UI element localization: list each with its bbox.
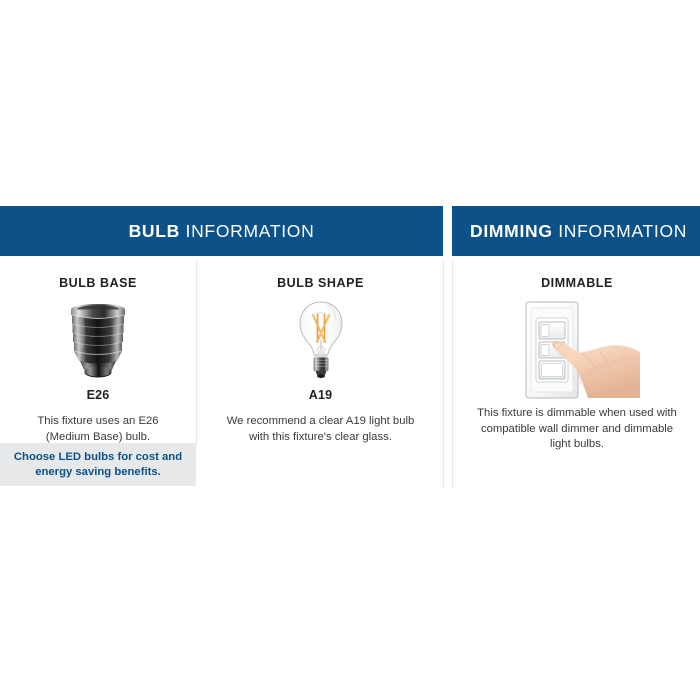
bulb-base-description: This fixture uses an E26 (Medium Base) b… <box>14 414 182 445</box>
bulb-information-title: BULB INFORMATION <box>129 221 315 242</box>
wall-dimmer-switch-with-hand-icon <box>454 296 700 400</box>
banner-row: BULB INFORMATION DIMMING INFORMATION <box>0 206 700 256</box>
column-bulb-base: BULB BASE <box>0 256 196 445</box>
column-dimmable: DIMMABLE <box>454 256 700 453</box>
dimming-information-title-rest: INFORMATION <box>553 221 687 241</box>
dimming-information-title: DIMMING INFORMATION <box>470 221 687 242</box>
dimmable-description: This fixture is dimmable when used with … <box>473 406 681 453</box>
led-callout-text: Choose LED bulbs for cost and energy sav… <box>13 450 183 480</box>
e26-screw-base-icon <box>0 300 196 386</box>
bulb-information-title-rest: INFORMATION <box>180 221 314 241</box>
led-callout-box: Choose LED bulbs for cost and energy sav… <box>0 443 196 486</box>
bulb-base-label: E26 <box>0 388 196 402</box>
dimmable-heading: DIMMABLE <box>454 276 700 290</box>
bulb-shape-description: We recommend a clear A19 light bulb with… <box>223 414 419 445</box>
dimming-information-title-strong: DIMMING <box>470 221 553 241</box>
bulb-base-heading: BULB BASE <box>0 276 196 290</box>
dimming-information-banner: DIMMING INFORMATION <box>452 206 700 256</box>
bulb-information-banner: BULB INFORMATION <box>0 206 443 256</box>
column-bulb-shape: BULB SHAPE <box>198 256 443 445</box>
a19-clear-bulb-icon <box>198 300 443 386</box>
bulb-shape-heading: BULB SHAPE <box>198 276 443 290</box>
bulb-shape-label: A19 <box>198 388 443 402</box>
bulb-information-title-strong: BULB <box>129 221 180 241</box>
